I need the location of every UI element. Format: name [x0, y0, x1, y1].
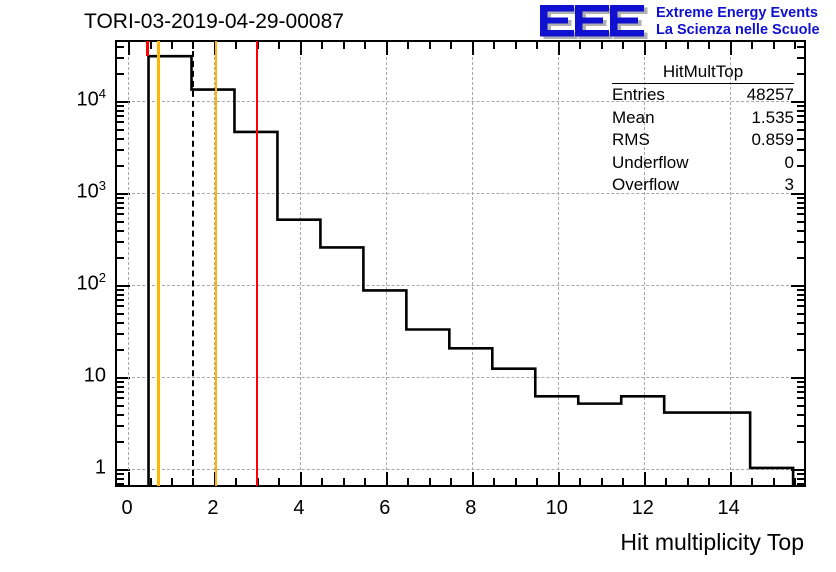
- y-axis-tick-label: 104: [77, 89, 106, 112]
- x-axis-tick-label: 12: [632, 497, 654, 520]
- stats-row: Underflow0: [612, 152, 794, 175]
- mean-dashed: [192, 41, 196, 486]
- threshold-orange-right: [215, 41, 218, 486]
- stats-row-value: 48257: [747, 84, 794, 107]
- x-axis-tick-label: 6: [379, 497, 390, 520]
- x-axis-title: Hit multiplicity Top: [620, 529, 804, 556]
- stats-row: Mean1.535: [612, 107, 794, 130]
- stats-box: HitMultTop Entries48257Mean1.535RMS0.859…: [612, 62, 794, 197]
- threshold-red-left: [146, 41, 149, 56]
- threshold-red-right: [256, 41, 259, 486]
- stats-row-label: Mean: [612, 107, 655, 130]
- x-axis-tick-label: 14: [718, 497, 740, 520]
- x-axis-tick-label: 8: [465, 497, 476, 520]
- y-axis-tick-label: 1: [95, 456, 106, 479]
- plot-canvas: TORI-03-2019-04-29-00087 Extreme Energy …: [0, 0, 836, 572]
- stats-row-label: Overflow: [612, 174, 679, 197]
- stats-row: RMS0.859: [612, 129, 794, 152]
- x-axis-tick-label: 0: [121, 497, 132, 520]
- threshold-orange-left: [157, 41, 160, 486]
- stats-row-label: Entries: [612, 84, 665, 107]
- stats-row-value: 0.859: [751, 129, 794, 152]
- stats-row-value: 1.535: [751, 107, 794, 130]
- x-axis-tick-label: 4: [293, 497, 304, 520]
- y-axis-tick-label: 10: [84, 364, 106, 387]
- y-axis-tick-label: 102: [77, 272, 106, 295]
- stats-row-value: 3: [785, 174, 794, 197]
- x-axis-tick-label: 2: [207, 497, 218, 520]
- stats-row-label: Underflow: [612, 152, 689, 175]
- stats-row-label: RMS: [612, 129, 650, 152]
- y-axis-tick-label: 103: [77, 181, 106, 204]
- stats-box-title: HitMultTop: [612, 62, 794, 84]
- stats-row: Entries48257: [612, 84, 794, 107]
- stats-row: Overflow3: [612, 174, 794, 197]
- stats-row-value: 0: [785, 152, 794, 175]
- x-axis-tick-label: 10: [546, 497, 568, 520]
